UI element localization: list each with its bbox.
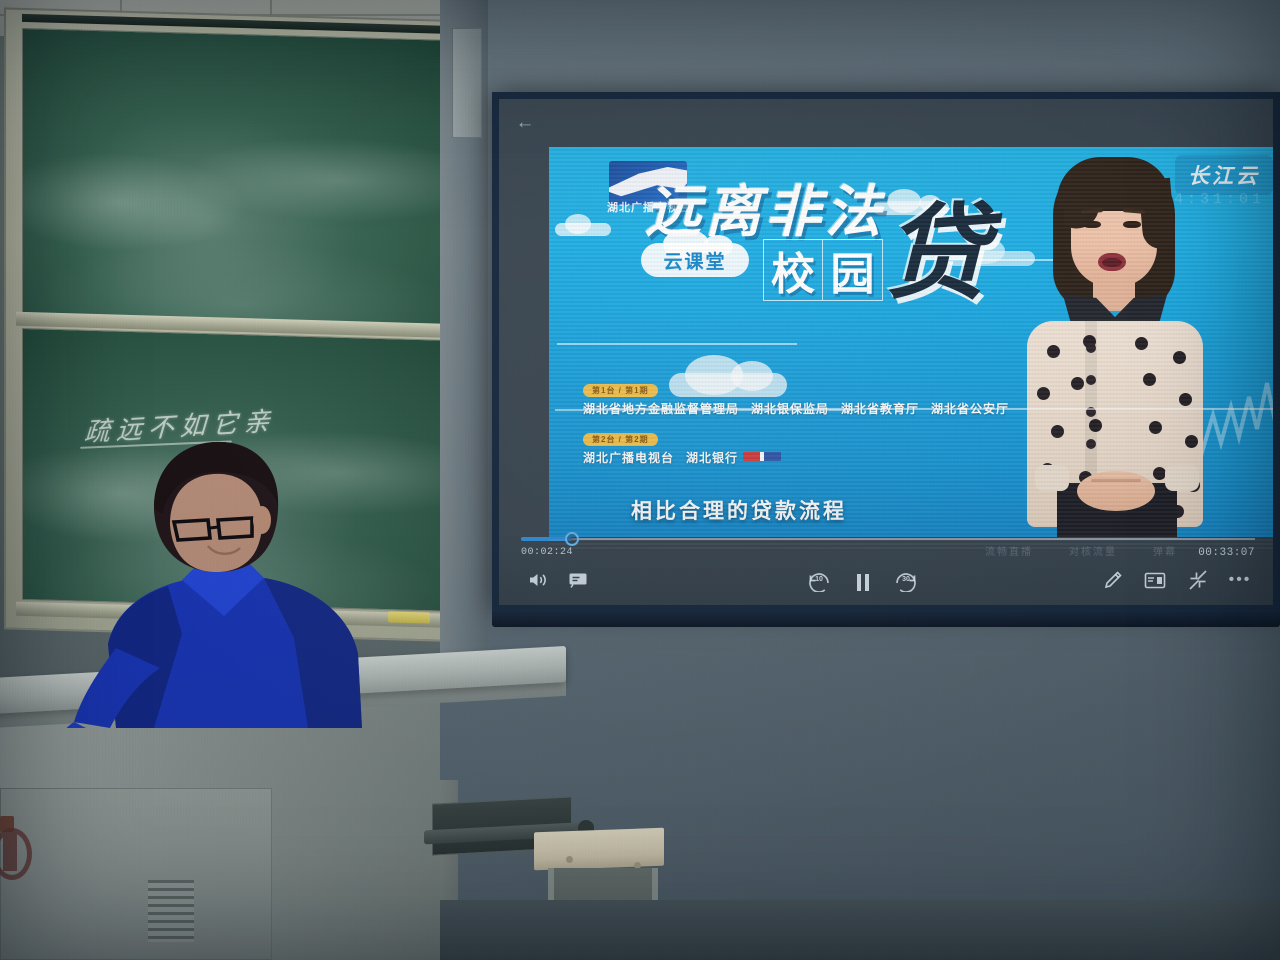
progress-knob[interactable] xyxy=(565,532,579,546)
credit-divider xyxy=(583,408,1273,410)
exit-fullscreen-icon[interactable] xyxy=(1185,567,1211,593)
classroom-scene: 疏远不如它亲 ← › xyxy=(0,0,1280,960)
floor xyxy=(440,900,1280,960)
bench-desktop xyxy=(534,828,664,871)
player-control-bar: 00:02:24 00:33:07 流畅直播 对核流量 弹幕 xyxy=(499,537,1273,605)
progress-track[interactable] xyxy=(521,538,1255,540)
ghost-label: 弹幕 xyxy=(1153,543,1177,558)
more-options-icon[interactable]: ••• xyxy=(1227,567,1253,593)
rewind-10-label: 10 xyxy=(804,576,834,583)
player-button-row: 10 30 xyxy=(499,563,1273,603)
projection-screen: ← › 湖北广播电视台 xyxy=(492,92,1280,612)
video-player: ← › 湖北广播电视台 xyxy=(499,99,1273,605)
divider-line xyxy=(557,343,797,345)
podium-vents xyxy=(148,880,194,942)
forward-30-icon[interactable]: 30 xyxy=(891,567,921,597)
cloud-classroom-badge-label: 云课堂 xyxy=(663,247,726,274)
current-time: 00:02:24 xyxy=(521,547,573,558)
progress-bar[interactable] xyxy=(521,537,1255,541)
video-subtitle: 相比合理的贷款流程 xyxy=(631,495,847,525)
credit-badge: 第1台 / 第1期 xyxy=(583,384,658,397)
total-time: 00:33:07 xyxy=(1198,547,1255,559)
caption-icon[interactable] xyxy=(565,567,591,593)
volume-icon[interactable] xyxy=(525,567,551,593)
video-frame[interactable]: 湖北广播电视台 远离非法 云课堂 校 园 贷 长江云 14:31:01 xyxy=(549,147,1280,551)
bench-screw xyxy=(566,856,573,863)
screen-bottom-rail xyxy=(492,612,1280,627)
cloud-decoration xyxy=(555,223,611,236)
cloud-classroom-badge: 云课堂 xyxy=(641,243,749,277)
ghost-label-row: 流畅直播 对核流量 弹幕 xyxy=(985,543,1177,558)
credit-name: 湖北广播电视台 xyxy=(583,451,674,465)
big-title-char: 贷 xyxy=(884,203,988,307)
blackboard-upper-panel xyxy=(22,28,462,326)
boxed-title-chars: 校 园 xyxy=(763,239,883,301)
ghost-label: 对核流量 xyxy=(1069,543,1117,558)
boxed-char-1: 校 xyxy=(763,239,823,301)
credit-row: 第1台 / 第1期 湖北省地方金融监督管理局湖北银保监局湖北省教育厅湖北省公安厅 xyxy=(583,380,1103,417)
ghost-label: 流畅直播 xyxy=(985,543,1033,558)
credits-block: 第1台 / 第1期 湖北省地方金融监督管理局湖北银保监局湖北省教育厅湖北省公安厅… xyxy=(583,380,1103,473)
pause-button[interactable] xyxy=(850,567,876,597)
credit-badge: 第2台 / 第2期 xyxy=(583,433,658,446)
back-arrow-icon[interactable]: ← xyxy=(513,111,537,135)
side-panel-icon[interactable] xyxy=(1142,567,1168,593)
bank-logo-mark xyxy=(743,452,781,461)
pencil-icon[interactable] xyxy=(1100,567,1126,593)
rewind-10-icon[interactable]: 10 xyxy=(804,567,834,597)
credit-name: 湖北银行 xyxy=(686,451,738,465)
boxed-char-2: 园 xyxy=(823,239,883,301)
wall-duct xyxy=(452,28,482,138)
person-at-podium xyxy=(58,438,398,728)
presenter-figure xyxy=(1001,153,1229,551)
forward-30-label: 30 xyxy=(891,576,921,583)
credit-names: 湖北广播电视台湖北银行 xyxy=(583,449,1103,466)
credit-row: 第2台 / 第2期 湖北广播电视台湖北银行 xyxy=(583,429,1103,466)
podium-front-panel xyxy=(0,788,272,960)
